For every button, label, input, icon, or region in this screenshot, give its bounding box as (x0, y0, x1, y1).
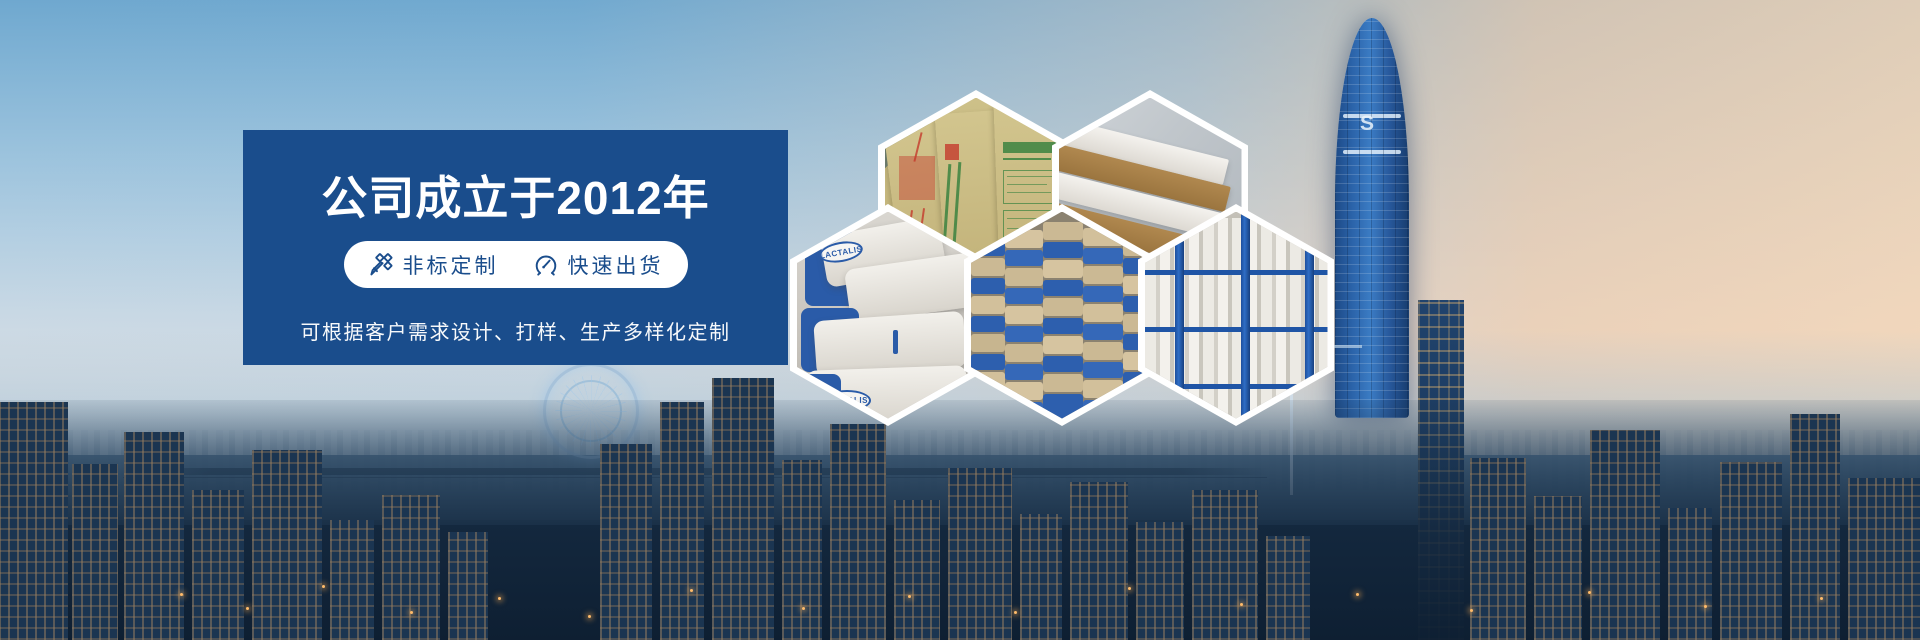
hex-image-stacked-bag-pallet (971, 212, 1154, 419)
panel-description: 可根据客户需求设计、打样、生产多样化定制 (301, 316, 731, 345)
promo-text-panel: 公司成立于2012年 非标定制 (243, 130, 788, 365)
feature-badge-pill: 非标定制 快速出货 (344, 241, 688, 288)
building (830, 424, 886, 640)
speed-gauge-icon (533, 252, 559, 278)
building (1790, 414, 1840, 640)
building (1590, 430, 1660, 640)
building (1136, 522, 1184, 640)
hex-image-warehouse-racking-sacks (1145, 212, 1328, 419)
building (1266, 536, 1310, 640)
feature-badge-label: 非标定制 (403, 250, 499, 280)
building (1848, 478, 1920, 640)
building (600, 444, 652, 640)
building (1070, 482, 1128, 640)
building (252, 450, 322, 640)
building (712, 378, 774, 640)
building (192, 490, 244, 640)
photo-warehouse-racking-sacks (1145, 212, 1328, 419)
building (72, 464, 118, 640)
building (0, 402, 68, 640)
photo-white-blue-lactalis-sacks: LACTALIS LACTALIS (797, 212, 980, 419)
building (124, 432, 184, 640)
hero-banner: S (0, 0, 1920, 640)
building (382, 495, 440, 640)
building (894, 500, 940, 640)
building (330, 520, 374, 640)
hex-image-white-blue-lactalis-sacks: LACTALIS LACTALIS (797, 212, 980, 419)
feature-badge-custom-design[interactable]: 非标定制 (368, 250, 499, 280)
page-title: 公司成立于2012年 (321, 175, 709, 221)
hex-photo-gallery: LACTALIS LACTALIS (790, 78, 1490, 438)
building (448, 532, 488, 640)
custom-design-pen-icon (368, 252, 394, 278)
building (948, 468, 1012, 640)
building (1668, 508, 1712, 640)
building (1720, 462, 1782, 640)
building (1534, 496, 1582, 640)
building (660, 402, 704, 640)
feature-badge-label: 快速出货 (568, 250, 664, 280)
building (1192, 490, 1258, 640)
feature-badge-fast-shipping[interactable]: 快速出货 (533, 250, 664, 280)
photo-stacked-bag-pallet (971, 212, 1154, 419)
building (782, 460, 822, 640)
building (1470, 458, 1526, 640)
building (1020, 514, 1062, 640)
